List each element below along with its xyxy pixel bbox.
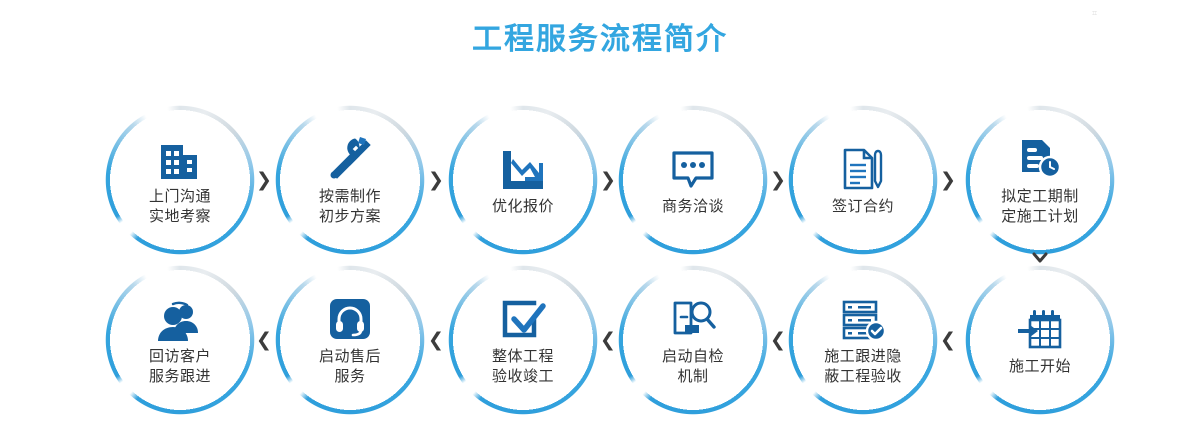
flow-node-7[interactable]: 施工开始 (965, 265, 1115, 415)
headset-icon (328, 293, 372, 341)
flow-node-label: 优化报价 (492, 197, 554, 217)
flow-arrow-left-2: ❮ (424, 327, 448, 353)
calendar-arrow-icon (1016, 303, 1064, 351)
flow-node-4[interactable]: 商务洽谈 (618, 105, 768, 255)
flow-arrow-right-3: ❯ (596, 167, 620, 193)
speech-bubble-icon (669, 143, 717, 191)
flow-node-8[interactable]: 施工跟进隐 蔽工程验收 (788, 265, 938, 415)
flow-node-11[interactable]: 启动售后 服务 (275, 265, 425, 415)
watermark-mark: ⌗ (1092, 8, 1097, 19)
flow-node-12[interactable]: 回访客户 服务跟进 (105, 265, 255, 415)
flow-node-label: 商务洽谈 (662, 197, 724, 217)
flow-node-label: 拟定工期制 定施工计划 (1001, 187, 1079, 227)
flow-arrow-right-4: ❯ (766, 167, 790, 193)
flow-node-label: 签订合约 (832, 197, 894, 217)
flow-node-label: 施工跟进隐 蔽工程验收 (824, 347, 902, 387)
flow-node-6[interactable]: 拟定工期制 定施工计划 (965, 105, 1115, 255)
flow-arrow-right-2: ❯ (424, 167, 448, 193)
flow-arrow-right-1: ❯ (252, 167, 276, 193)
page-title: 工程服务流程简介 (0, 22, 1200, 58)
flow-node-5[interactable]: 签订合约 (788, 105, 938, 255)
two-people-icon (156, 293, 204, 341)
document-clock-icon (1017, 133, 1063, 181)
document-magnifier-icon (669, 293, 717, 341)
flow-arrow-left-1: ❮ (252, 327, 276, 353)
building-icon (157, 133, 203, 181)
flow-arrow-left-4: ❮ (766, 327, 790, 353)
flow-arrow-left-3: ❮ (596, 327, 620, 353)
flow-node-label: 按需制作 初步方案 (319, 187, 381, 227)
flow-node-label: 整体工程 验收竣工 (492, 347, 554, 387)
flow-node-2[interactable]: 按需制作 初步方案 (275, 105, 425, 255)
flow-arrow-left-5: ❮ (936, 327, 960, 353)
server-check-icon (839, 293, 887, 341)
flow-node-3[interactable]: 优化报价 (448, 105, 598, 255)
document-pen-icon (840, 143, 886, 191)
flow-node-1[interactable]: 上门沟通 实地考察 (105, 105, 255, 255)
wrench-screwdriver-icon (326, 133, 374, 181)
flow-row-top: 上门沟通 实地考察 ❯ (0, 105, 1200, 255)
flow-node-label: 启动自检 机制 (662, 347, 724, 387)
checkbox-check-icon (500, 293, 546, 341)
declining-chart-icon (499, 143, 547, 191)
flow-node-9[interactable]: 启动自检 机制 (618, 265, 768, 415)
flow-node-10[interactable]: 整体工程 验收竣工 (448, 265, 598, 415)
flow-node-label: 施工开始 (1009, 357, 1071, 377)
flow-arrow-right-5: ❯ (936, 167, 960, 193)
flow-node-label: 回访客户 服务跟进 (149, 347, 211, 387)
flow-node-label: 启动售后 服务 (319, 347, 381, 387)
flow-row-bottom: 回访客户 服务跟进 ❮ 启动售后 (0, 265, 1200, 415)
process-flow-infographic: 工程服务流程简介 ⌗ (0, 0, 1200, 440)
flow-node-label: 上门沟通 实地考察 (149, 187, 211, 227)
